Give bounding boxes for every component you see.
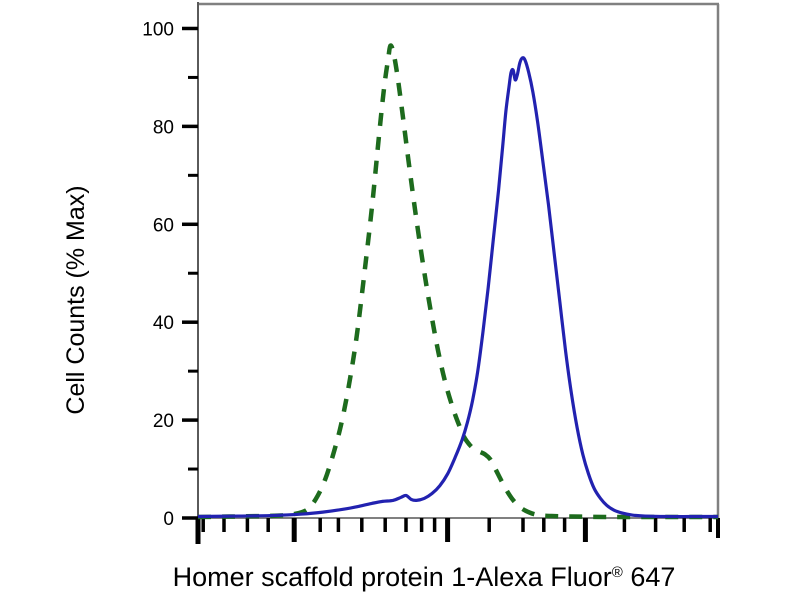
y-axis-tick-label: 20 xyxy=(153,411,174,432)
y-axis-ticks xyxy=(182,28,198,518)
y-axis-tick-label: 40 xyxy=(153,313,174,334)
y-axis-tick-label: 60 xyxy=(153,215,174,236)
y-axis-tick-label: 100 xyxy=(142,19,174,40)
chart-title: Homer scaffold protein 1-Alexa Fluor® 64… xyxy=(173,562,676,592)
y-axis-label: Cell Counts (% Max) xyxy=(62,185,90,414)
registered-mark-icon: ® xyxy=(612,564,623,581)
chart-title-tail: 647 xyxy=(623,562,676,592)
flow-cytometry-histogram-figure: 020406080100 Cell Counts (% Max) Homer s… xyxy=(0,0,800,600)
plot-background xyxy=(198,4,718,518)
y-axis-tick-label: 80 xyxy=(153,117,174,138)
y-axis-tick-label: 0 xyxy=(163,509,174,530)
y-axis-tick-labels: 020406080100 xyxy=(142,19,174,530)
x-axis-ticks xyxy=(198,518,718,544)
chart-title-main: Homer scaffold protein 1-Alexa Fluor xyxy=(173,562,612,592)
histogram-chart: 020406080100 Cell Counts (% Max) Homer s… xyxy=(0,0,800,600)
